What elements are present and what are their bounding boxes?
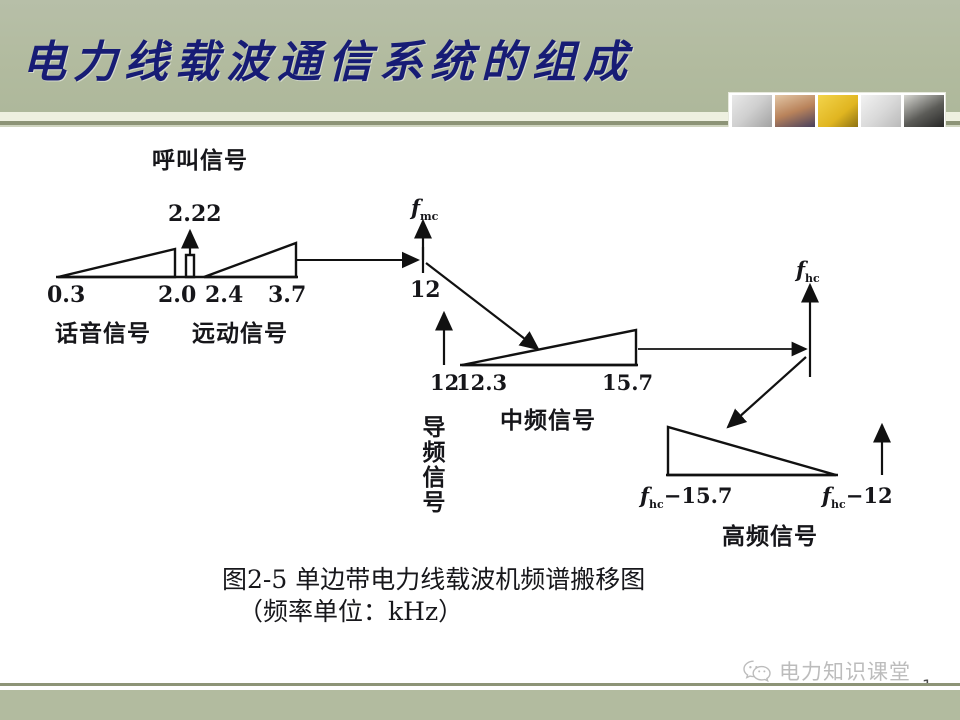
hc-carrier-symbol-sub: hc	[805, 272, 820, 285]
mc-carrier-symbol-sub: mc	[420, 210, 438, 223]
call-signal-value: 2.22	[168, 203, 222, 225]
stage3-tick-left-sub: hc	[649, 498, 664, 511]
stage2-tick-2: 15.7	[602, 372, 653, 393]
figure-caption-line1: 图2-5 单边带电力线载波机频谱搬移图	[222, 565, 645, 596]
mixer-input-value: 12	[410, 279, 441, 301]
footer-band	[0, 690, 960, 720]
stage3-tick-right: fhc−12	[822, 483, 893, 511]
footer-watermark: 电力知识课堂	[742, 656, 911, 686]
wechat-icon	[742, 658, 772, 684]
if-signal-ramp	[462, 330, 636, 365]
watermark-text: 电力知识课堂	[779, 656, 911, 686]
stage3-tick-left-rest: −15.7	[664, 483, 733, 508]
spectrum-shift-diagram: 呼叫信号 2.22 0.3 2.0 2.4 3.7 话音信号 远动信号 fmc …	[0, 127, 960, 683]
stage1-tick-2: 2.4	[205, 284, 243, 306]
pilot-signal-label: 导频信号	[420, 415, 443, 515]
figure-caption-line2: （频率单位：kHz）	[238, 597, 463, 628]
slide: 电力线载波通信系统的组成	[0, 0, 960, 720]
stage3-tick-left-symbol: f	[640, 483, 649, 508]
stage3-tick-right-rest: −12	[846, 483, 893, 508]
page-title: 电力线载波通信系统的组成	[22, 26, 634, 90]
stage3-tick-left: fhc−15.7	[640, 483, 733, 511]
if-signal-label: 中频信号	[500, 409, 596, 432]
stage3-tick-right-sub: hc	[831, 498, 846, 511]
stage1-tick-3: 3.7	[268, 284, 306, 306]
telecontrol-signal-label: 远动信号	[192, 322, 288, 345]
stage2-tick-0: 12	[430, 372, 459, 393]
stage1-tick-1: 2.0	[158, 284, 196, 306]
hc-carrier-symbol-letter: f	[796, 257, 805, 282]
stage2-tick-1: 12.3	[456, 372, 507, 393]
hf-signal-ramp	[668, 427, 836, 475]
hc-carrier-symbol: fhc	[796, 257, 820, 285]
voice-signal-label: 话音信号	[55, 322, 151, 345]
telecontrol-signal-ramp	[204, 243, 296, 277]
call-signal-spike	[186, 255, 194, 277]
connector-hf-node-to-hf-band	[728, 357, 806, 427]
voice-signal-ramp	[58, 249, 175, 277]
call-signal-title: 呼叫信号	[152, 149, 248, 172]
mc-carrier-symbol-letter: f	[411, 195, 420, 220]
stage1-tick-0: 0.3	[47, 284, 85, 306]
mc-carrier-symbol: fmc	[411, 195, 438, 223]
stage3-tick-right-symbol: f	[822, 483, 831, 508]
diagram-vector-layer	[0, 127, 960, 683]
hf-signal-label: 高频信号	[722, 525, 818, 548]
connector-mixer-to-if	[426, 263, 538, 349]
